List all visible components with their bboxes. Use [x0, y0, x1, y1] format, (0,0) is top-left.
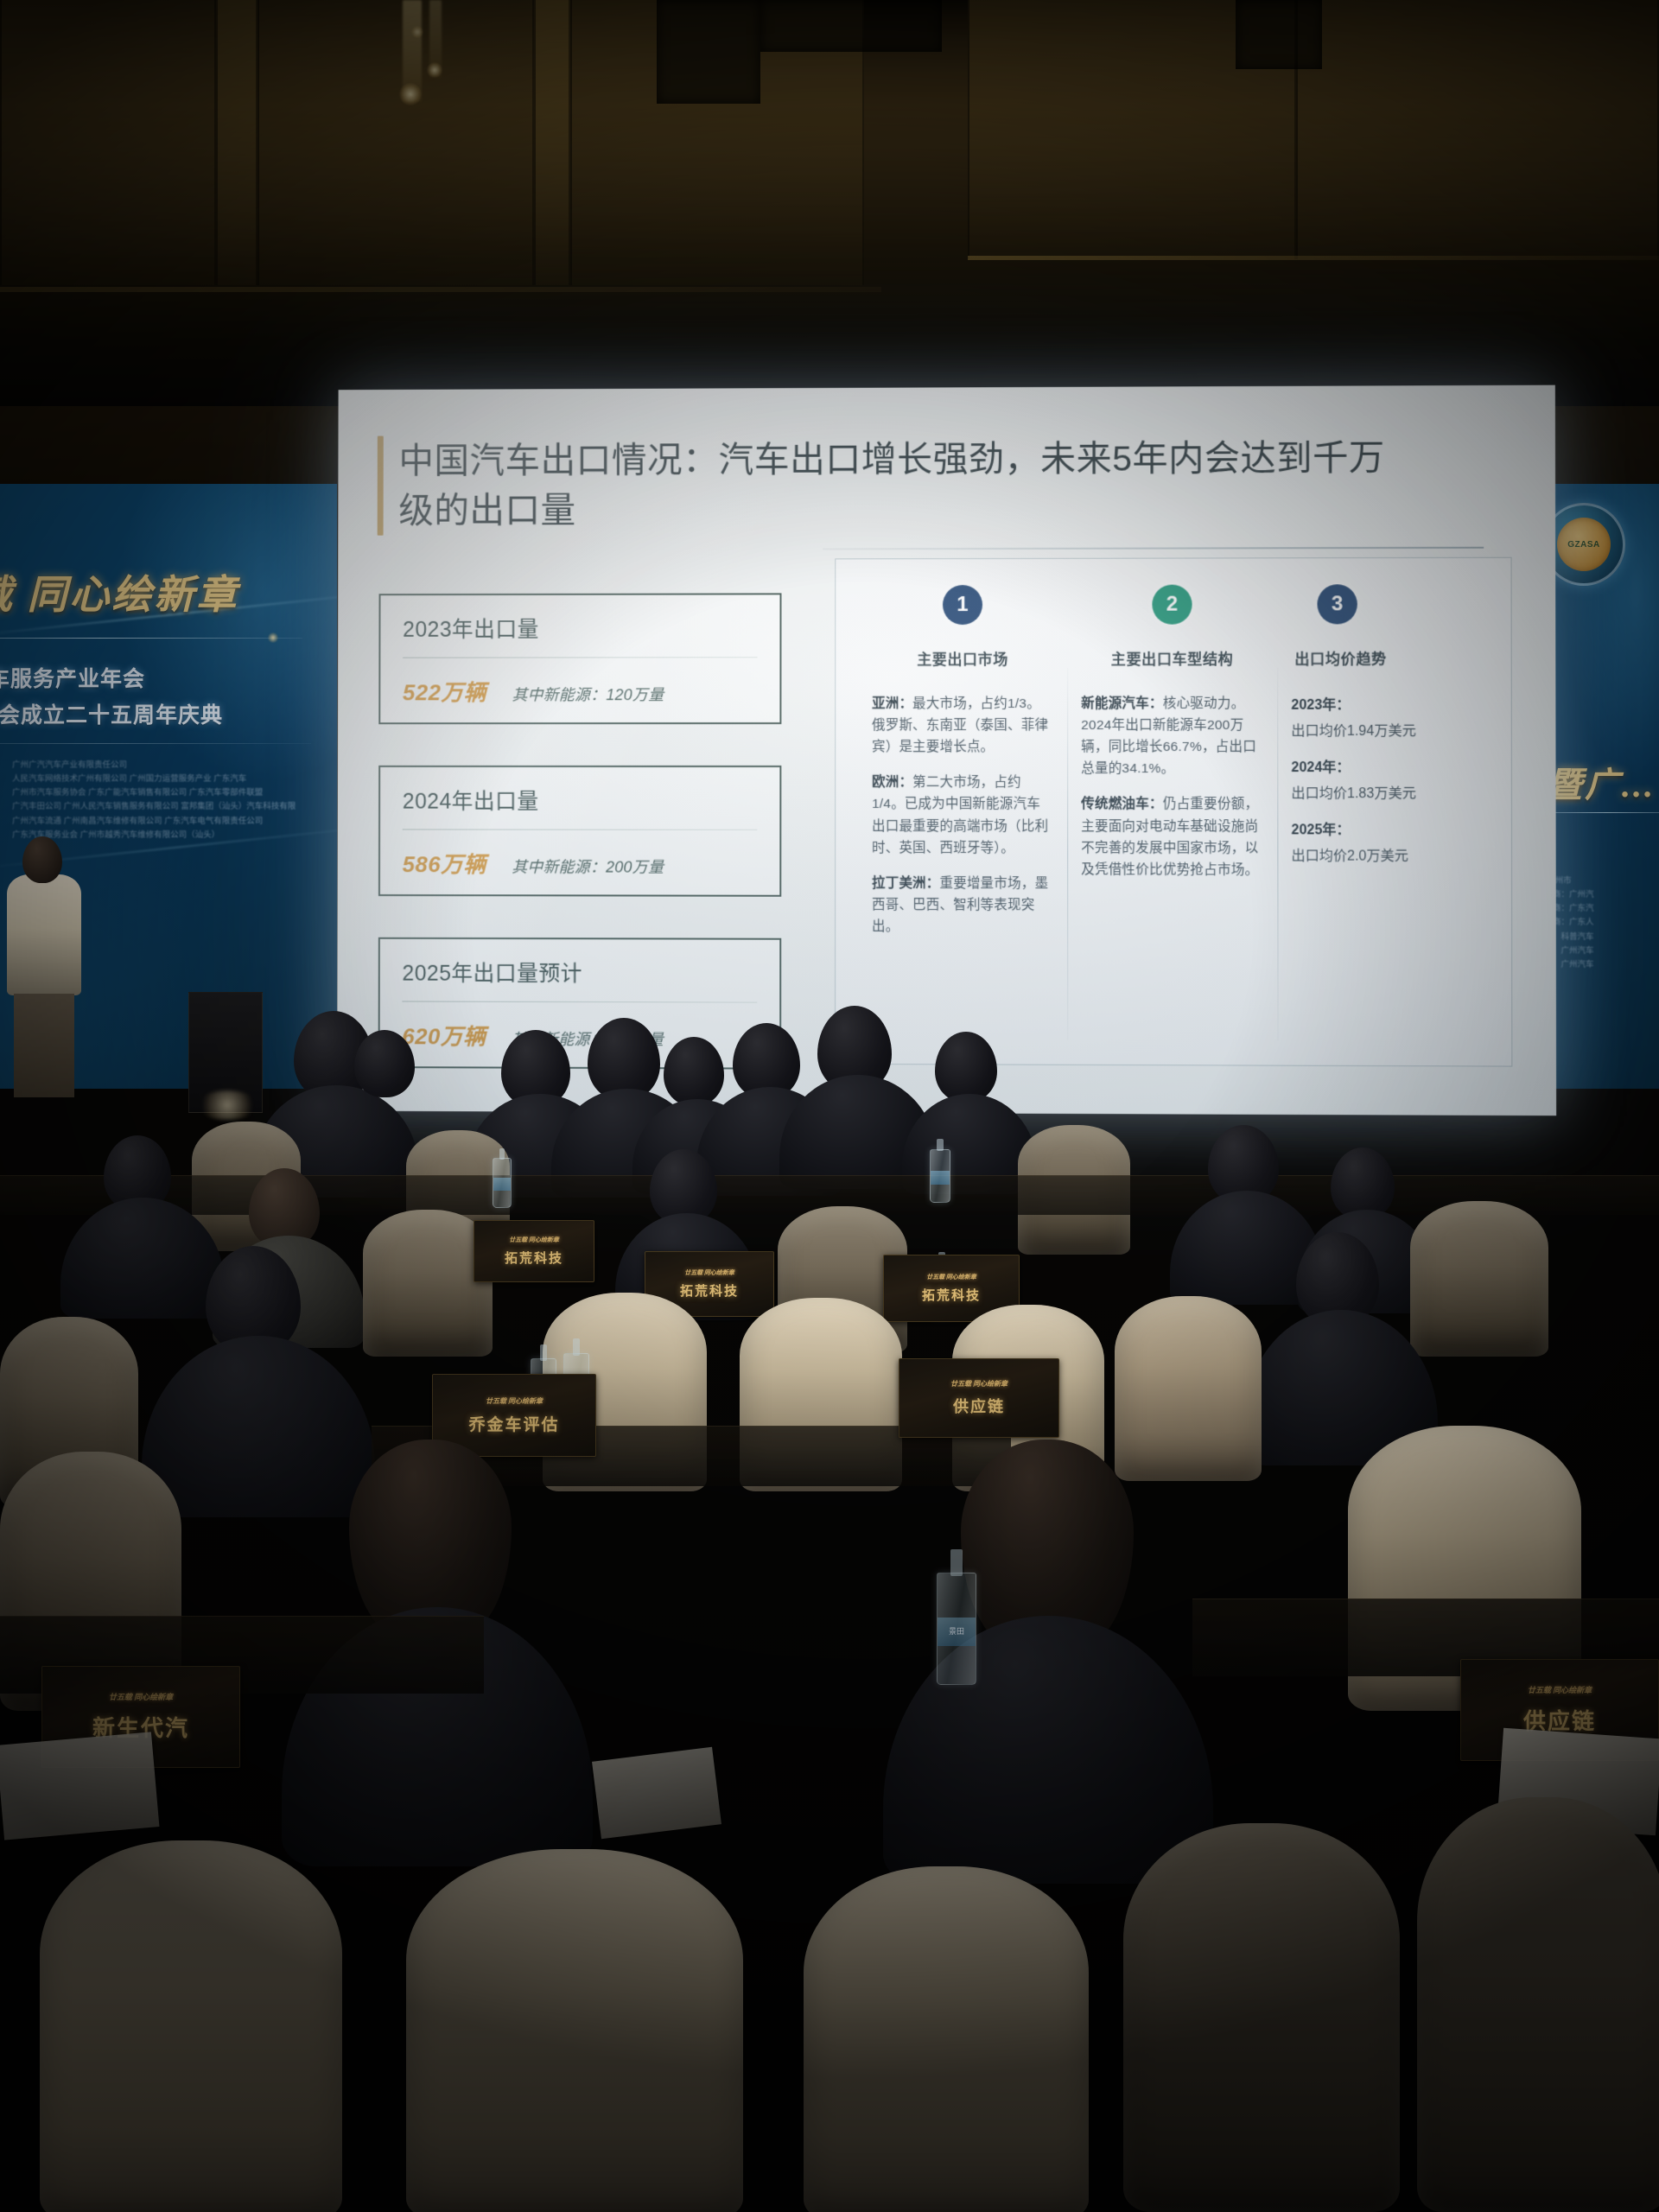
column-body: 2023年： 出口均价1.94万美元 2024年： 出口均价1.83万美元 20…: [1291, 693, 1474, 865]
water-bottle: 景田: [937, 1573, 976, 1685]
card-nev-value: 其中新能源：200万量: [512, 855, 664, 877]
placard-company: 拓荒科技: [922, 1286, 981, 1304]
paragraph-lead: 新能源汽车：: [1081, 696, 1163, 711]
column-body: 亚洲：最大市场，占约1/3。俄罗斯、东南亚（泰国、菲律宾）是主要增长点。 欧洲：…: [872, 693, 1053, 938]
ceiling: [0, 0, 1659, 406]
card-volume-value: 522万辆: [403, 675, 486, 707]
panel-column-2: 2 主要出口车型结构 新能源汽车：核心驱动力。2024年出口新能源车200万辆，…: [1067, 584, 1277, 1049]
chair: [1115, 1296, 1262, 1481]
column-heading: 主要出口车型结构: [1081, 647, 1263, 669]
panel-column-1: 1 主要出口市场 亚洲：最大市场，占约1/3。俄罗斯、东南亚（泰国、菲律宾）是主…: [858, 585, 1067, 1049]
placard-company: 拓荒科技: [505, 1249, 563, 1267]
badge-number-3: 3: [1317, 584, 1357, 624]
emblem-logo-text: GZASA: [1557, 518, 1611, 571]
card-label: 2024年出口量: [403, 785, 758, 816]
projection-screen: 中国汽车出口情况：汽车出口增长强劲，未来5年内会达到千万级的出口量 2023年出…: [337, 385, 1556, 1116]
chair: [1123, 1823, 1400, 2212]
presenter: [7, 874, 81, 995]
ceiling-light: [399, 83, 422, 105]
price-value: 出口均价1.83万美元: [1291, 781, 1474, 802]
column-heading: 主要出口市场: [872, 647, 1053, 669]
card-divider: [403, 657, 758, 658]
price-year: 2023年：: [1291, 693, 1474, 714]
ceiling-light: [411, 26, 423, 38]
analysis-panel: 1 主要出口市场 亚洲：最大市场，占约1/3。俄罗斯、东南亚（泰国、菲律宾）是主…: [835, 557, 1512, 1067]
chair: [1410, 1201, 1548, 1357]
backdrop-event-line-1: 广州汽车服务产业年会: [0, 662, 145, 693]
audience-area: 廿五载 同心绘新章 拓荒科技 廿五载 同心绘新章 拓荒科技 廿五载 同心绘新章 …: [0, 1020, 1659, 2212]
ceiling-light: [427, 62, 442, 78]
backdrop-right-slogan: 暨广...: [1548, 757, 1656, 807]
paragraph-lead: 亚洲：: [872, 696, 912, 711]
card-divider: [402, 1001, 757, 1002]
card-volume-value: 586万辆: [403, 847, 486, 879]
export-card: 2023年出口量 522万辆 其中新能源：120万量: [378, 593, 781, 724]
audience-shoulders: [142, 1336, 375, 1517]
column-body: 新能源汽车：核心驱动力。2024年出口新能源车200万辆，同比增长66.7%，占…: [1081, 693, 1263, 881]
paragraph-lead: 传统燃油车：: [1081, 798, 1163, 812]
card-nev-value: 其中新能源：120万量: [512, 683, 664, 705]
price-value: 出口均价2.0万美元: [1291, 843, 1474, 864]
placard-slogan: 廿五载 同心绘新章: [109, 1691, 173, 1702]
card-label: 2023年出口量: [403, 612, 758, 643]
audience-head: [664, 1037, 724, 1106]
card-label: 2025年出口量预计: [402, 957, 757, 988]
backdrop-sponsor-list-left: 广州广汽汽车产业有限责任公司 人民汽车网络技术广州有限公司 广州国力运营服务产业…: [12, 759, 296, 842]
chair: [40, 1840, 342, 2212]
title-divider: [823, 547, 1484, 550]
handout-paper: [592, 1747, 721, 1839]
column-heading: 出口均价趋势: [1291, 646, 1474, 668]
price-year: 2025年：: [1291, 817, 1474, 838]
price-entry: 2024年： 出口均价1.83万美元: [1291, 755, 1474, 802]
placard-company: 乔金车评估: [468, 1412, 559, 1435]
placard-slogan: 廿五载 同心绘新章: [509, 1236, 559, 1244]
placard-company: 拓荒科技: [680, 1281, 739, 1300]
slide: 中国汽车出口情况：汽车出口增长强劲，未来5年内会达到千万级的出口量 2023年出…: [337, 385, 1556, 1116]
handout-paper: [0, 1732, 159, 1840]
placard-slogan: 廿五载 同心绘新章: [1528, 1684, 1592, 1695]
price-entry: 2023年： 出口均价1.94万美元: [1291, 693, 1474, 740]
card-divider: [403, 829, 758, 829]
chair: [406, 1849, 743, 2212]
backdrop-gold-slogan: 廿五载 同心绘新章: [0, 563, 239, 620]
chair: [804, 1866, 1089, 2212]
table-placard: 廿五载 同心绘新章 供应链: [899, 1358, 1059, 1438]
paragraph-lead: 欧洲：: [872, 775, 912, 790]
water-bottle: [930, 1149, 950, 1203]
conference-photo-scene: 廿五载 同心绘新章 广州汽车服务产业年会 服务业协会成立二十五周年庆典 广州广汽…: [0, 0, 1659, 2212]
paragraph-lead: 拉丁美洲：: [872, 876, 939, 891]
export-card: 2024年出口量 586万辆 其中新能源：200万量: [378, 766, 781, 897]
price-year: 2024年：: [1291, 755, 1474, 776]
panel-column-3: 3 出口均价趋势 2023年： 出口均价1.94万美元 2024年： 出口均价1…: [1277, 584, 1489, 1050]
placard-slogan: 廿五载 同心绘新章: [684, 1268, 734, 1277]
audience-shoulders: [883, 1616, 1213, 1884]
backdrop-event-line-2: 服务业协会成立二十五周年庆典: [0, 698, 223, 729]
placard-slogan: 廿五载 同心绘新章: [926, 1273, 976, 1281]
audience-head: [354, 1030, 415, 1097]
bottle-label: 景田: [938, 1618, 976, 1646]
price-value: 出口均价1.94万美元: [1291, 719, 1474, 740]
title-accent-bar: [378, 436, 384, 537]
price-entry: 2025年： 出口均价2.0万美元: [1291, 817, 1474, 864]
placard-company: 供应链: [953, 1395, 1005, 1417]
slide-title-block: 中国汽车出口情况：汽车出口增长强劲，未来5年内会达到千万级的出口量: [378, 433, 1386, 537]
audience-head: [935, 1032, 997, 1103]
page-title: 中国汽车出口情况：汽车出口增长强劲，未来5年内会达到千万级的出口量: [398, 433, 1386, 537]
placard-slogan: 廿五载 同心绘新章: [950, 1379, 1007, 1389]
presenter-head: [22, 836, 62, 883]
badge-number-2: 2: [1152, 585, 1192, 625]
placard-slogan: 廿五载 同心绘新章: [486, 1396, 543, 1406]
chair: [1417, 1797, 1659, 2212]
table-placard: 廿五载 同心绘新章 拓荒科技: [474, 1220, 594, 1282]
badge-number-1: 1: [943, 585, 982, 625]
water-bottle: [493, 1158, 512, 1208]
